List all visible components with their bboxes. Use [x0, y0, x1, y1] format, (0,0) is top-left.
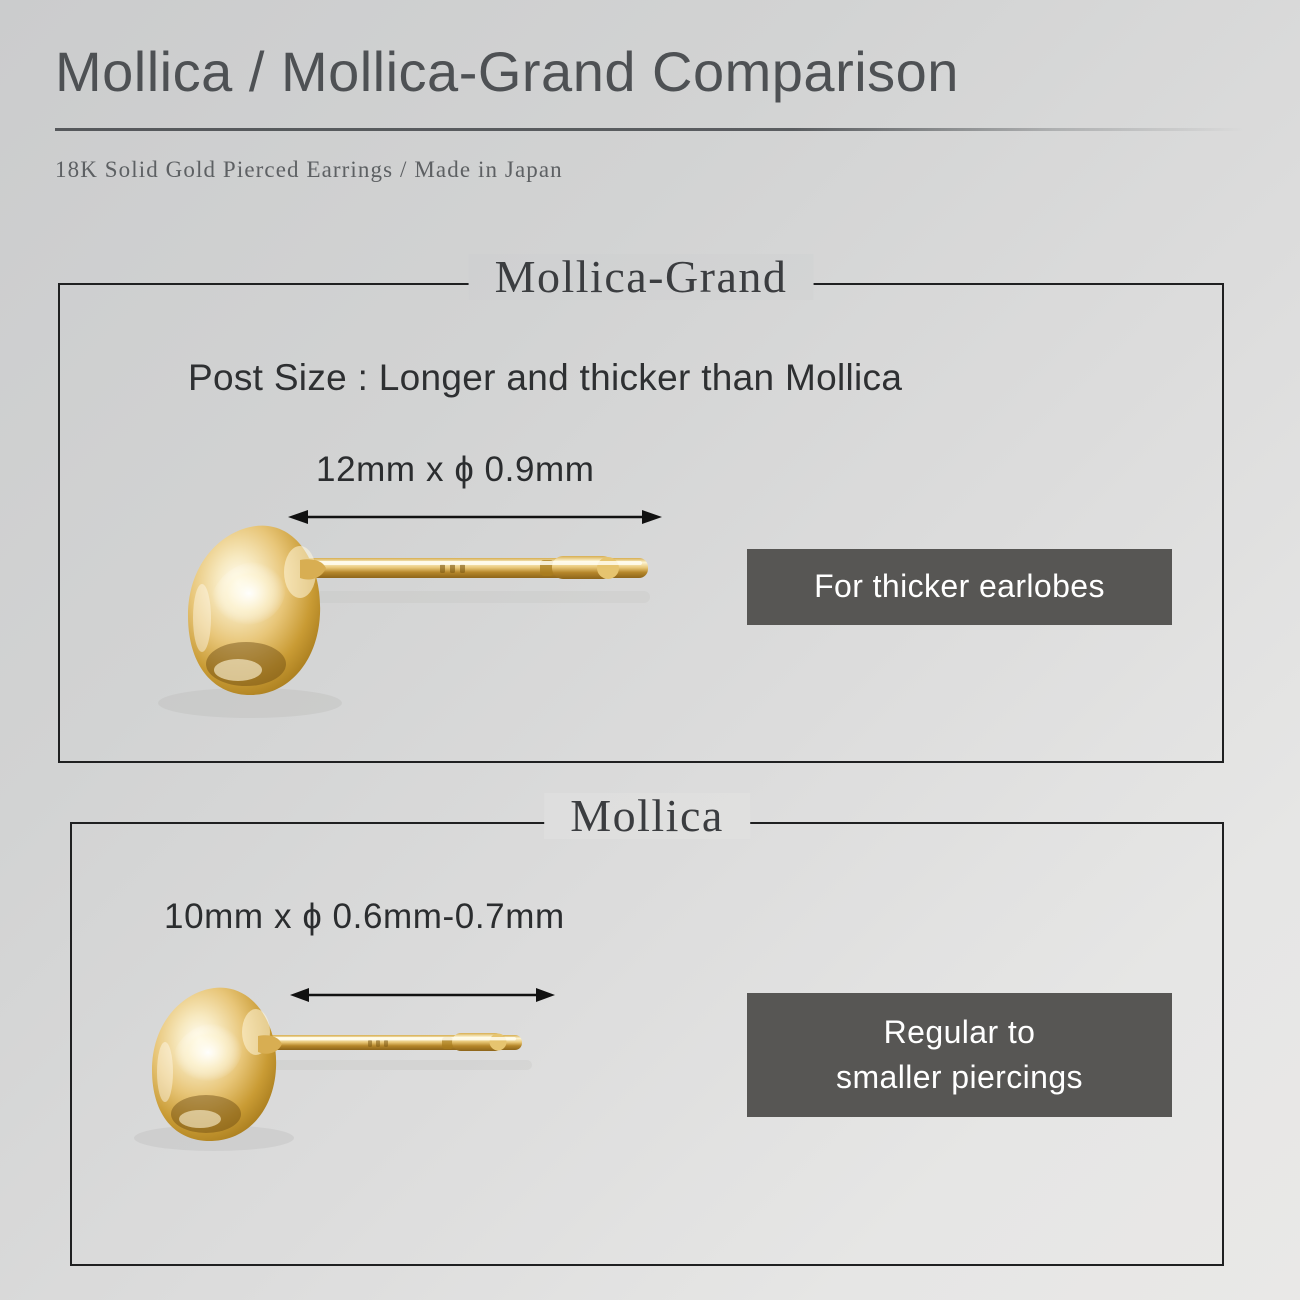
badge-line: Regular to: [884, 1010, 1036, 1055]
badge-mollica-grand: For thicker earlobes: [747, 549, 1172, 625]
earring-image-mollica-grand: [150, 498, 690, 723]
comparison-page: Mollica / Mollica-Grand Comparison 18K S…: [0, 0, 1300, 1300]
post-size-description: Post Size : Longer and thicker than Moll…: [188, 357, 902, 399]
page-subtitle: 18K Solid Gold Pierced Earrings / Made i…: [55, 157, 1245, 183]
page-title: Mollica / Mollica-Grand Comparison: [55, 40, 1245, 104]
earring-image-mollica: [122, 968, 592, 1153]
dimension-label-mollica: 10mm x ɸ 0.6mm-0.7mm: [164, 897, 565, 937]
badge-line: For thicker earlobes: [814, 564, 1105, 609]
panel-title-mollica-grand: Mollica-Grand: [469, 254, 814, 300]
badge-mollica: Regular to smaller piercings: [747, 993, 1172, 1117]
dimension-label-mollica-grand: 12mm x ɸ 0.9mm: [316, 450, 595, 490]
panel-title-mollica: Mollica: [544, 793, 750, 839]
badge-line: smaller piercings: [836, 1055, 1083, 1100]
header: Mollica / Mollica-Grand Comparison 18K S…: [55, 40, 1245, 183]
header-divider: [55, 128, 1245, 131]
